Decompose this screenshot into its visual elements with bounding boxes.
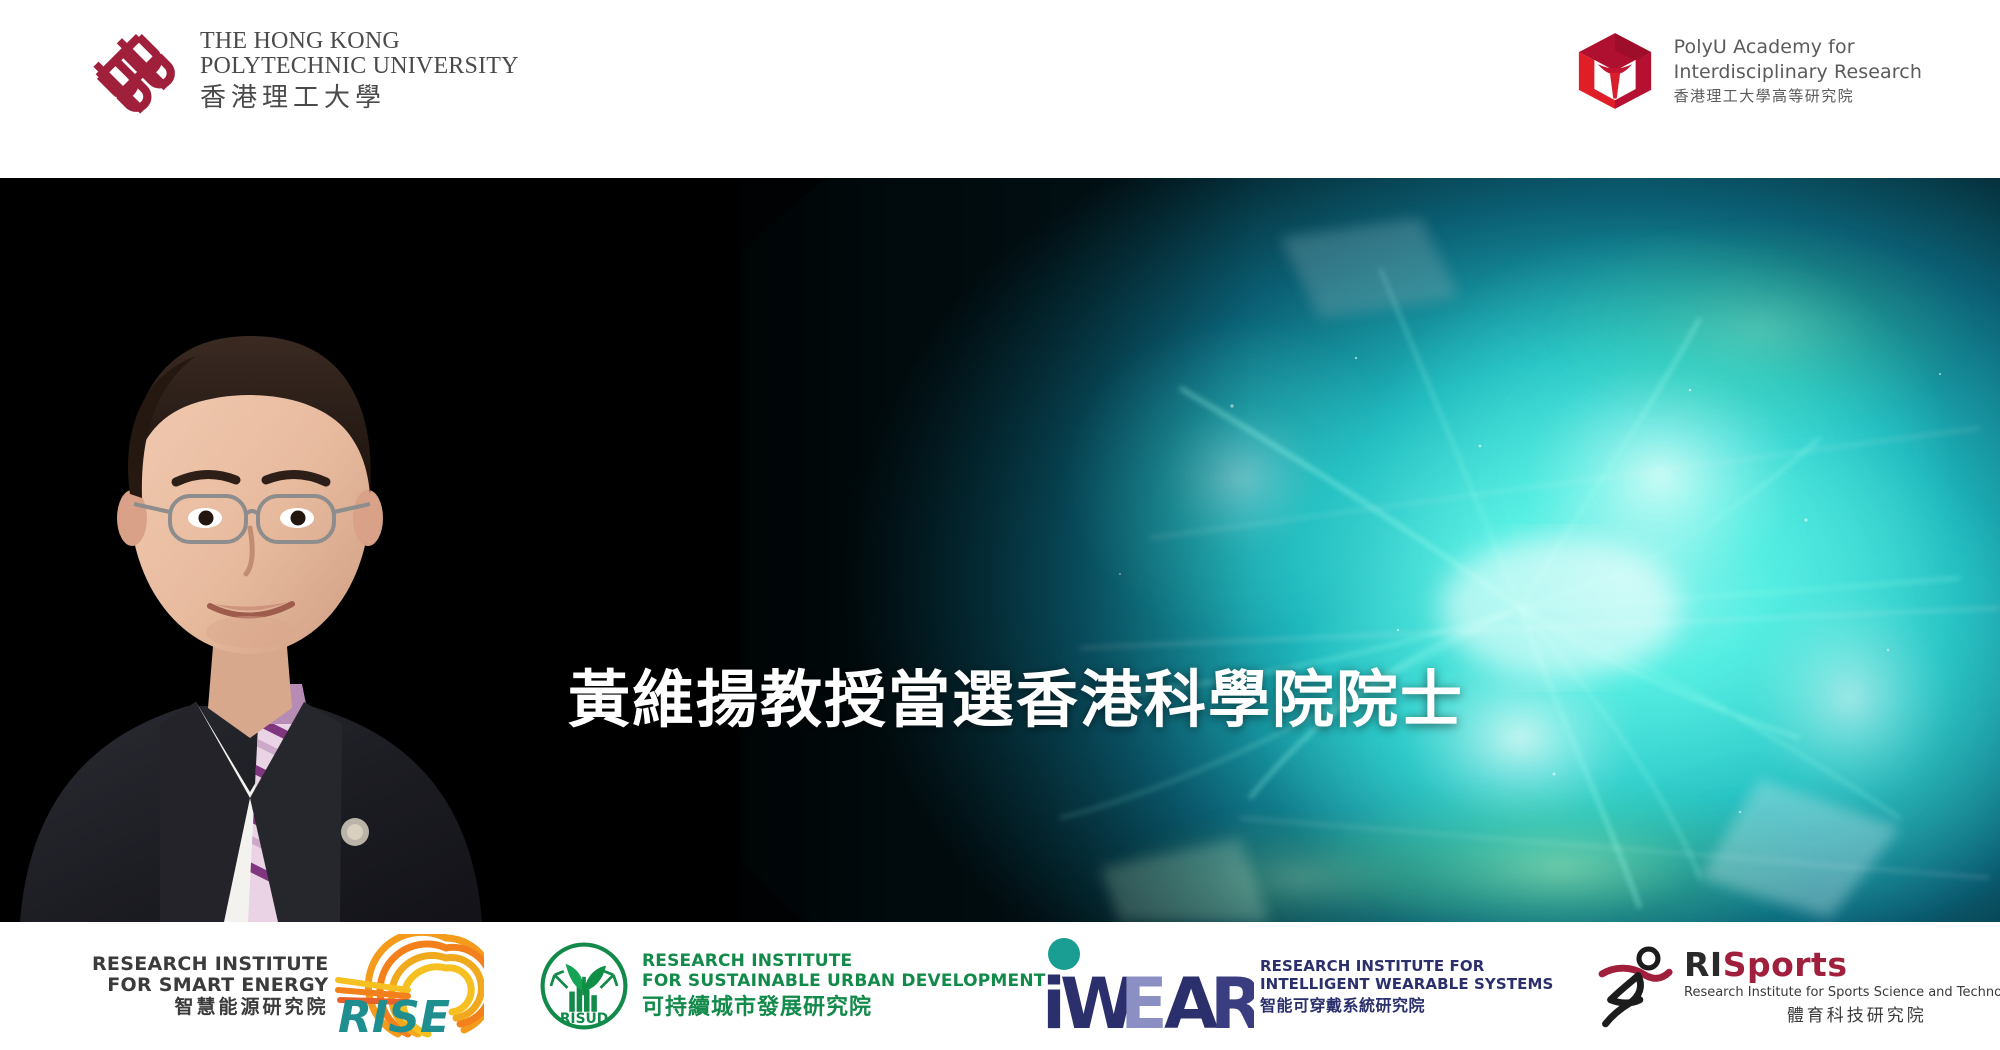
rise-name-zh: 智慧能源研究院 (174, 997, 328, 1018)
pair-name-en-line2: Interdisciplinary Research (1674, 60, 1922, 84)
risud-name-zh: 可持續城市發展研究院 (642, 995, 1046, 1021)
svg-text:R: R (1210, 963, 1254, 1036)
rise-wordmark: RESEARCH INSTITUTE FOR SMART ENERGY 智慧能源… (92, 954, 328, 1018)
footer-logo-iwear[interactable]: i W E A R RESEARCH INSTITUTE FOR INTELLI… (1042, 936, 1553, 1036)
risports-mark-ri: RI (1684, 945, 1723, 984)
pair-name-zh: 香港理工大學高等研究院 (1674, 86, 1922, 107)
risports-mark-sports: Sports (1723, 945, 1848, 984)
polyu-knot-emblem-icon (88, 26, 182, 118)
risud-mark-text: RISUD (560, 1011, 608, 1027)
risports-name-en: Research Institute for Sports Science an… (1684, 986, 2000, 1001)
rise-name-en-line1: RESEARCH INSTITUTE (92, 954, 328, 975)
rise-arcs-icon: RISE (334, 934, 484, 1038)
polyu-name-zh: 香港理工大學 (200, 83, 519, 114)
rise-mark-text: RISE (338, 992, 450, 1038)
polyu-logo-lockup[interactable]: THE HONG KONG POLYTECHNIC UNIVERSITY 香港理… (88, 26, 519, 118)
risports-mark: RISports (1684, 946, 2000, 984)
iwear-name-en-line1: RESEARCH INSTITUTE FOR (1260, 957, 1553, 975)
iwear-name-en-line2: INTELLIGENT WEARABLE SYSTEMS (1260, 975, 1553, 993)
portrait-photo (10, 232, 490, 922)
page-footer: RESEARCH INSTITUTE FOR SMART ENERGY 智慧能源… (0, 922, 2000, 1050)
risud-name-en-line1: RESEARCH INSTITUTE (642, 951, 1046, 971)
pair-cube-logo-icon (1572, 28, 1658, 114)
polyu-name-en-line2: POLYTECHNIC UNIVERSITY (200, 55, 519, 80)
risports-wordmark: RISports Research Institute for Sports S… (1684, 946, 2000, 1026)
polyu-wordmark: THE HONG KONG POLYTECHNIC UNIVERSITY 香港理… (200, 30, 519, 114)
risports-name-zh: 體育科技研究院 (1787, 1007, 1927, 1027)
iwear-wordmark: RESEARCH INSTITUTE FOR INTELLIGENT WEARA… (1260, 957, 1553, 1015)
svg-text:E: E (1120, 963, 1168, 1036)
pair-wordmark: PolyU Academy for Interdisciplinary Rese… (1674, 35, 1922, 107)
risud-wordmark: RESEARCH INSTITUTE FOR SUSTAINABLE URBAN… (642, 951, 1046, 1021)
pair-name-en-line1: PolyU Academy for (1674, 35, 1922, 59)
iwear-name-zh: 智能可穿戴系統研究院 (1260, 996, 1553, 1016)
footer-logo-risud[interactable]: RISUD RESEARCH INSTITUTE FOR SUSTAINABLE… (538, 940, 1046, 1032)
running-figure-icon (1590, 940, 1676, 1032)
risud-circle-leaf-icon: RISUD (538, 940, 630, 1032)
hero-banner: 黃維揚教授當選香港科學院院士 (0, 178, 2000, 922)
polyu-name-en-line1: THE HONG KONG (200, 30, 519, 55)
rise-name-en-line2: FOR SMART ENERGY (107, 975, 328, 996)
footer-logo-rise[interactable]: RESEARCH INSTITUTE FOR SMART ENERGY 智慧能源… (92, 934, 484, 1038)
pair-logo-lockup[interactable]: PolyU Academy for Interdisciplinary Rese… (1572, 28, 1922, 114)
iwear-dot-icon: i W E A R (1042, 936, 1254, 1036)
risud-name-en-line2: FOR SUSTAINABLE URBAN DEVELOPMENT (642, 971, 1046, 991)
hero-title: 黃維揚教授當選香港科學院院士 (568, 666, 1464, 734)
page-header: THE HONG KONG POLYTECHNIC UNIVERSITY 香港理… (0, 0, 2000, 178)
footer-logo-risports[interactable]: RISports Research Institute for Sports S… (1590, 940, 2000, 1032)
